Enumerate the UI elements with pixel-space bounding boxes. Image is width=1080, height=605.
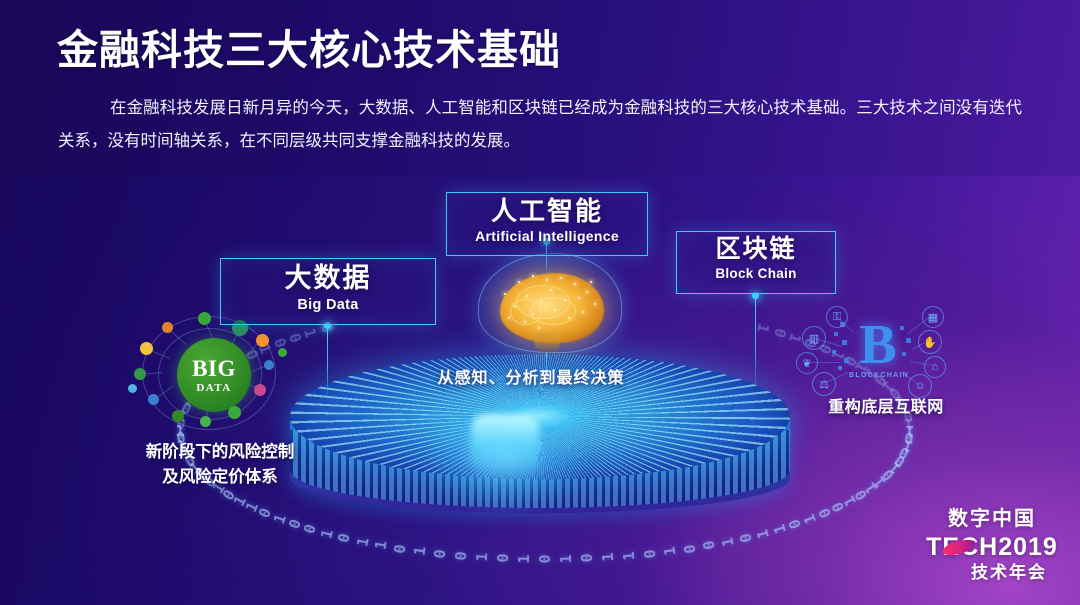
logo-line-1: 数字中国: [916, 506, 1068, 532]
bitcoin-b-icon: B: [852, 316, 904, 378]
blockchain-pixel-icon: [906, 338, 911, 343]
binary-digit: 0: [493, 553, 511, 563]
card-blockchain-title-cn: 区块链: [677, 236, 835, 263]
binary-digit: 1: [620, 550, 639, 561]
connector-line-blockchain: [755, 298, 756, 386]
blockchain-pixel-icon: [842, 340, 847, 345]
slide-root: 金融科技三大核心技术基础 在金融科技发展日新月异的今天，大数据、人工智能和区块链…: [0, 0, 1080, 605]
brain-synapse-dot: [540, 301, 542, 303]
brain-synapse-dot: [594, 303, 596, 305]
connector-line-bigdata: [327, 328, 328, 398]
binary-digit: 0: [903, 429, 915, 448]
binary-digit: 0: [891, 451, 909, 471]
brain-synapse-dot: [582, 311, 584, 313]
brain-synapse-dot: [514, 305, 516, 307]
brain-synapse-dot: [532, 313, 534, 315]
binary-digit: 1: [753, 322, 773, 335]
bigdata-badge-big: BIG: [192, 357, 236, 380]
bigdata-node-icon: [264, 360, 274, 370]
blockchain-pixel-icon: [844, 358, 849, 363]
binary-digit: 1: [905, 422, 914, 440]
brain-synapse-dot: [508, 317, 510, 319]
logo-line-2: TECH2019: [916, 533, 1068, 561]
card-artificial-intelligence[interactable]: 人工智能 Artificial Intelligence: [446, 192, 648, 256]
bigdata-node-icon: [162, 322, 173, 333]
binary-digit: 0: [578, 553, 596, 563]
brain-synapse-dot: [554, 309, 556, 311]
card-bigdata[interactable]: 大数据 Big Data: [220, 258, 436, 325]
disc-core: [471, 414, 539, 476]
binary-digit: 1: [599, 552, 618, 562]
binary-digit: 1: [900, 436, 914, 456]
brain-synapse-dot: [550, 289, 552, 291]
intro-paragraph: 在金融科技发展日新月异的今天，大数据、人工智能和区块链已经成为金融科技的三大核心…: [58, 92, 1022, 158]
caption-bigdata-line2: 及风险定价体系: [104, 465, 336, 490]
bigdata-node-icon: [128, 384, 137, 393]
brain-synapse-dot: [578, 297, 580, 299]
brain-synapse-dot: [574, 283, 576, 285]
blockchain-pixel-icon: [902, 352, 906, 356]
card-ai-title-en: Artificial Intelligence: [447, 228, 647, 244]
brain-synapse-dot: [568, 317, 570, 319]
bigdata-icon-cluster: BIG DATA: [128, 310, 294, 435]
binary-digit: 0: [896, 443, 912, 463]
brain-synapse-dot: [532, 275, 534, 277]
binary-digit: 1: [870, 473, 890, 491]
binary-digit: 1: [840, 493, 860, 509]
card-blockchain[interactable]: 区块链 Block Chain: [676, 231, 836, 294]
caption-bigdata-line1: 新阶段下的风险控制: [104, 440, 336, 465]
bigdata-node-icon: [198, 312, 211, 325]
binary-digit: 1: [861, 480, 881, 498]
card-blockchain-title-en: Block Chain: [677, 266, 835, 281]
blockchain-home-icon: ⌂: [924, 356, 946, 378]
bigdata-node-icon: [148, 394, 159, 405]
bigdata-node-icon: [200, 416, 211, 427]
brain-synapse-dot: [590, 281, 592, 283]
brain-synapse-dot: [546, 279, 548, 281]
blockchain-chart-icon: ▦: [922, 306, 944, 328]
blockchain-leaf-icon: ❦: [796, 352, 818, 374]
page-title: 金融科技三大核心技术基础: [57, 16, 561, 76]
binary-digit: 0: [536, 554, 554, 563]
brain-synapse-dot: [564, 299, 566, 301]
blockchain-pixel-icon: [832, 350, 836, 354]
binary-digit: 0: [878, 465, 897, 484]
binary-digit: 1: [557, 554, 575, 563]
brain-synapse-dot: [538, 327, 540, 329]
bigdata-node-icon: [228, 406, 241, 419]
card-bigdata-title-en: Big Data: [221, 297, 435, 313]
blockchain-pixel-icon: [834, 332, 838, 336]
binary-digit: 0: [828, 500, 848, 516]
binary-digit: 1: [230, 493, 250, 509]
blockchain-pixel-icon: [838, 366, 842, 370]
caption-blockchain: 重构底层互联网: [788, 393, 984, 417]
bigdata-node-icon: [278, 348, 287, 357]
caption-bigdata: 新阶段下的风险控制 及风险定价体系: [104, 440, 336, 490]
brain-stem-icon: [534, 333, 560, 353]
brain-synapse-dot: [518, 281, 520, 283]
card-ai-title-cn: 人工智能: [447, 197, 647, 225]
bigdata-node-icon: [256, 334, 269, 347]
binary-digit: 1: [885, 458, 904, 478]
blockchain-connector-line: [806, 362, 840, 363]
binary-digit: 1: [472, 552, 491, 562]
logo-line-3: 技术年会: [916, 562, 1068, 584]
card-bigdata-title-cn: 大数据: [221, 264, 435, 293]
blockchain-pixel-icon: [900, 326, 904, 330]
bigdata-node-icon: [134, 368, 146, 380]
binary-digit: 1: [515, 554, 533, 563]
blockchain-icon-cluster: B BLOCKCHAIN ⚿ ▦ ▥ ✋ ❦ ⌂ ⚖ ☺: [796, 306, 956, 398]
brain-synapse-dot: [524, 321, 526, 323]
bigdata-node-icon: [254, 384, 266, 396]
caption-ai: 从感知、分析到最终决策: [398, 364, 664, 388]
brain-synapse-dot: [560, 277, 562, 279]
brain-synapse-dot: [526, 295, 528, 297]
binary-digit: 0: [851, 486, 871, 503]
brain-illustration: [474, 251, 624, 355]
blockchain-hand-icon: ✋: [918, 330, 942, 354]
brain-synapse-dot: [586, 291, 588, 293]
brain-synapse-dot: [504, 293, 506, 295]
bigdata-node-icon: [140, 342, 153, 355]
bigdata-badge-data: DATA: [196, 382, 231, 394]
bigdata-node-icon: [172, 410, 184, 422]
brain-fold-icon: [510, 299, 542, 325]
event-logo: 数字中国 TECH2019 技术年会: [916, 506, 1068, 594]
bigdata-badge: BIG DATA: [177, 338, 251, 412]
binary-digit: 0: [451, 550, 470, 561]
